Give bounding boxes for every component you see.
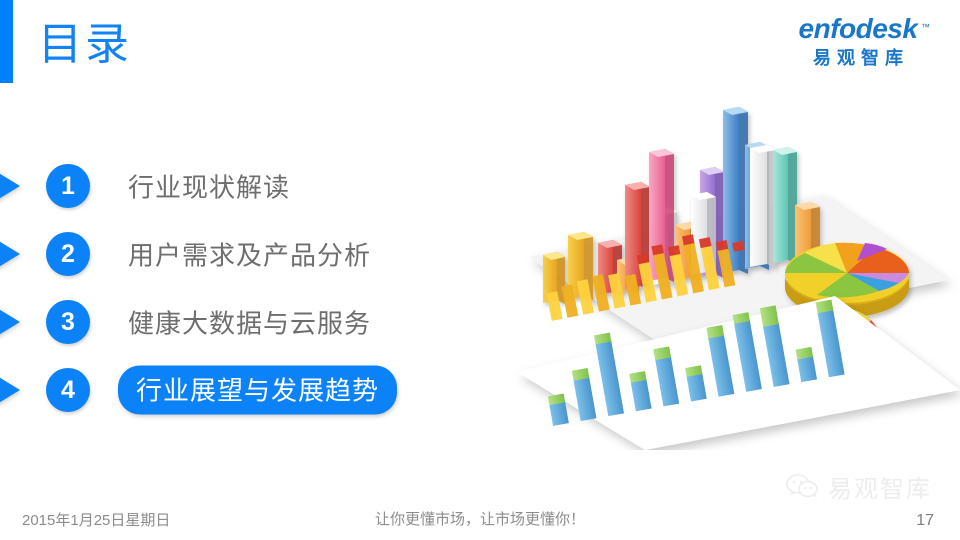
toc-number-badge: 4 <box>46 368 90 412</box>
business-charts-illustration <box>505 100 960 450</box>
page-title: 目录 <box>38 18 132 72</box>
footer-tagline: 让你更懂市场，让市场更懂你！ <box>0 508 960 529</box>
toc-item-3[interactable]: 3 健康大数据与云服务 <box>0 288 430 356</box>
toc-number-badge: 2 <box>46 232 90 276</box>
toc-item-label: 用户需求及产品分析 <box>128 236 371 273</box>
arrow-right-icon <box>0 305 20 339</box>
wechat-watermark: 易观智库 <box>786 469 932 504</box>
logo-chinese-name: 易观智库 <box>778 46 938 70</box>
toc-item-4-active[interactable]: 4 行业展望与发展趋势 <box>0 356 430 424</box>
page-number: 17 <box>916 512 934 530</box>
logo-wordmark-text: enfodesk <box>799 13 918 44</box>
arrow-right-icon <box>0 237 20 271</box>
header-accent-bar <box>0 0 13 83</box>
toc-number-badge: 1 <box>46 164 90 208</box>
toc-item-label-highlighted: 行业展望与发展趋势 <box>118 366 397 415</box>
toc-number-badge: 3 <box>46 300 90 344</box>
toc-item-label: 健康大数据与云服务 <box>128 304 371 341</box>
arrow-right-icon <box>0 373 20 407</box>
toc-item-1[interactable]: 1 行业现状解读 <box>0 152 430 220</box>
brand-logo: enfodesk ™ 易观智库 <box>778 14 938 70</box>
arrow-right-icon <box>0 169 20 203</box>
table-of-contents: 1 行业现状解读 2 用户需求及产品分析 3 健康大数据与云服务 4 行业展望与… <box>0 152 430 424</box>
watermark-label: 易观智库 <box>828 469 932 504</box>
toc-item-label: 行业现状解读 <box>128 168 290 205</box>
logo-wordmark: enfodesk ™ <box>799 14 918 44</box>
wechat-icon <box>786 474 820 500</box>
toc-item-2[interactable]: 2 用户需求及产品分析 <box>0 220 430 288</box>
trademark-symbol: ™ <box>921 12 930 42</box>
